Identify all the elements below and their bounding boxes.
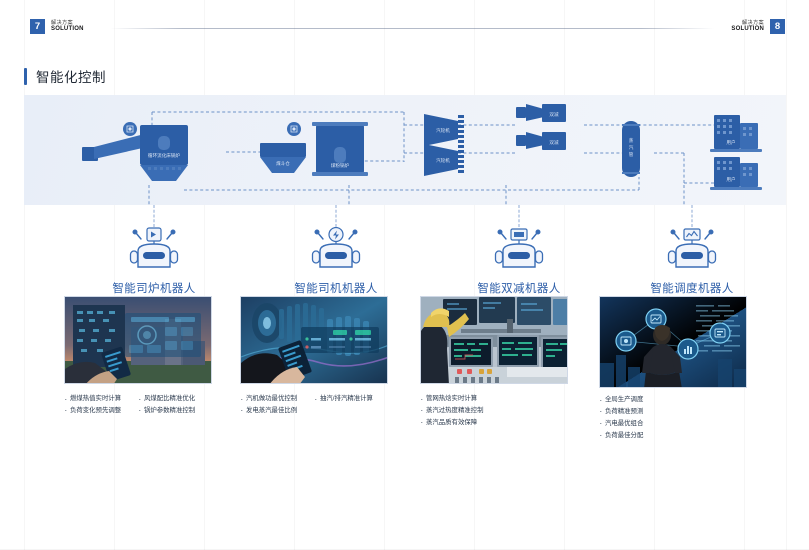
card-3-bullets: 全局生产调度 负荷精准预测 汽电最优组合 负荷最佳分配	[599, 394, 747, 441]
card-2: 管网热焓实时计算 蒸汽过热度精准控制 蒸汽品质有效保障	[420, 296, 568, 429]
header-label-en: SOLUTION	[51, 26, 84, 32]
label-steam-header-c3: 管	[629, 151, 634, 158]
section-title: 智能化控制	[24, 66, 106, 86]
page-number-right: 8	[770, 19, 785, 34]
card-3-bullet-row-0: 全局生产调度	[599, 394, 747, 406]
node-reducer-1: 双减	[516, 104, 566, 122]
node-user-2: 用户	[710, 157, 762, 190]
control-room-photo	[420, 296, 568, 384]
card-2-bullet-l0: 管网热焓实时计算	[420, 393, 477, 405]
robot-driver-icon	[261, 227, 411, 274]
node-cfb-boiler: 循环流化床锅炉	[140, 125, 188, 181]
card-3-bullet-row-1: 负荷精准预测	[599, 406, 747, 418]
label-steam-header-c1: 蒸	[629, 137, 634, 144]
sensor-icon-2	[287, 122, 301, 136]
label-turbine-2: 汽轮机	[436, 157, 450, 164]
node-pulverized-boiler: 煤粉锅炉	[312, 122, 368, 176]
robot-item-1: 智能司机机器人	[261, 205, 411, 296]
card-0-bullet-l1: 负荷变化预先调整	[64, 405, 138, 417]
robot-connector-line-1	[336, 205, 337, 227]
page-title: 智能化控制	[36, 66, 106, 86]
label-pulverized-boiler: 煤粉锅炉	[331, 162, 350, 169]
card-3: 全局生产调度 负荷精准预测 汽电最优组合 负荷最佳分配	[599, 296, 747, 441]
page-number-left: 7	[30, 19, 45, 34]
card-0-bullet-row-0: 燃煤热值实时计算 风煤配比精准优化	[64, 393, 212, 405]
power-plant-digital-photo	[64, 296, 212, 384]
label-reducer-2: 双减	[549, 139, 559, 146]
card-2-bullet-l2: 蒸汽品质有效保障	[420, 417, 477, 429]
card-0: 燃煤热值实时计算 风煤配比精准优化 负荷变化预先调整 锅炉参数精准控制	[64, 296, 212, 417]
card-2-bullet-row-2: 蒸汽品质有效保障	[420, 417, 568, 429]
label-user-2: 用户	[726, 176, 735, 183]
header-left-group: 7 解决方案 SOLUTION	[30, 19, 84, 34]
robot-item-3: 智能调度机器人	[617, 205, 767, 296]
node-reducer-2: 双减	[516, 132, 566, 150]
robot-label-1: 智能司机机器人	[261, 280, 411, 296]
process-flow-diagram: .dk{fill:#2c5ea6}.md{fill:#3a6db5}.lt{fi…	[24, 95, 786, 205]
title-accent-bar	[24, 68, 27, 85]
robot-connector-line-0	[154, 205, 155, 227]
card-2-bullets: 管网热焓实时计算 蒸汽过热度精准控制 蒸汽品质有效保障	[420, 393, 568, 429]
card-1-bullet-r0: 抽汽/排汽精准计算	[314, 393, 388, 405]
robot-connector-line-3	[692, 205, 693, 227]
dispatch-dashboard-photo	[599, 296, 747, 388]
card-0-bullet-r1: 锅炉参数精准控制	[138, 405, 212, 417]
label-steam-header-c2: 汽	[629, 144, 634, 150]
robot-row: 智能司炉机器人 智能司机机器人	[24, 205, 786, 295]
node-steam-header: 蒸 汽 管	[622, 121, 640, 177]
label-user-1: 用户	[726, 139, 735, 146]
card-row: 燃煤热值实时计算 风煤配比精准优化 负荷变化预先调整 锅炉参数精准控制	[24, 296, 786, 446]
node-coal-bunker: 煤斗仓	[260, 143, 306, 173]
slide-page: 7 解决方案 SOLUTION 解决方案 SOLUTION 8 智能化控制 .d…	[0, 0, 809, 550]
card-0-bullets: 燃煤热值实时计算 风煤配比精准优化 负荷变化预先调整 锅炉参数精准控制	[64, 393, 212, 417]
header-divider-rule	[110, 28, 714, 29]
label-coal-bunker: 煤斗仓	[276, 160, 290, 167]
robot-item-0: 智能司炉机器人	[79, 205, 229, 296]
robot-label-0: 智能司炉机器人	[79, 280, 229, 296]
node-turbine-2: 汽轮机	[424, 144, 464, 176]
header-label-en-right: SOLUTION	[731, 26, 764, 32]
steam-turbine-digital-photo	[240, 296, 388, 384]
card-0-bullet-l0: 燃煤热值实时计算	[64, 393, 138, 405]
card-1-bullets: 汽机做功最优控制 抽汽/排汽精准计算 发电蒸汽最佳比例	[240, 393, 388, 417]
card-3-bullet-row-3: 负荷最佳分配	[599, 430, 747, 442]
robot-connector-line-2	[519, 205, 520, 227]
robot-item-2: 智能双减机器人	[444, 205, 594, 296]
robot-dispatch-icon	[617, 227, 767, 274]
robot-reducer-icon	[444, 227, 594, 274]
card-3-bullet-l2: 汽电最优组合	[599, 418, 643, 430]
card-2-bullet-row-0: 管网热焓实时计算	[420, 393, 568, 405]
card-3-bullet-l0: 全局生产调度	[599, 394, 643, 406]
card-0-bullet-r0: 风煤配比精准优化	[138, 393, 212, 405]
card-3-bullet-row-2: 汽电最优组合	[599, 418, 747, 430]
card-3-bullet-l1: 负荷精准预测	[599, 406, 643, 418]
header-right-text: 解决方案 SOLUTION	[731, 21, 764, 33]
header-left-text: 解决方案 SOLUTION	[51, 21, 84, 33]
card-2-bullet-row-1: 蒸汽过热度精准控制	[420, 405, 568, 417]
label-reducer-1: 双减	[549, 111, 559, 118]
card-1-bullet-row-0: 汽机做功最优控制 抽汽/排汽精准计算	[240, 393, 388, 405]
header-right-group: 解决方案 SOLUTION 8	[731, 19, 785, 34]
label-cfb-boiler: 循环流化床锅炉	[148, 152, 181, 159]
card-1-bullet-l1: 发电蒸汽最佳比例	[240, 405, 314, 417]
page-header: 7 解决方案 SOLUTION 解决方案 SOLUTION 8	[0, 0, 809, 46]
node-turbine-1: 汽轮机	[424, 114, 464, 146]
robot-label-2: 智能双减机器人	[444, 280, 594, 296]
card-3-bullet-l3: 负荷最佳分配	[599, 430, 643, 442]
card-0-bullet-row-1: 负荷变化预先调整 锅炉参数精准控制	[64, 405, 212, 417]
robot-label-3: 智能调度机器人	[617, 280, 767, 296]
robot-boiler-icon	[79, 227, 229, 274]
card-2-bullet-l1: 蒸汽过热度精准控制	[420, 405, 484, 417]
sensor-icon-1	[123, 122, 137, 136]
card-1-bullet-l0: 汽机做功最优控制	[240, 393, 314, 405]
card-1: 汽机做功最优控制 抽汽/排汽精准计算 发电蒸汽最佳比例	[240, 296, 388, 417]
node-user-1: 用户	[710, 115, 762, 152]
label-turbine-1: 汽轮机	[436, 127, 450, 134]
